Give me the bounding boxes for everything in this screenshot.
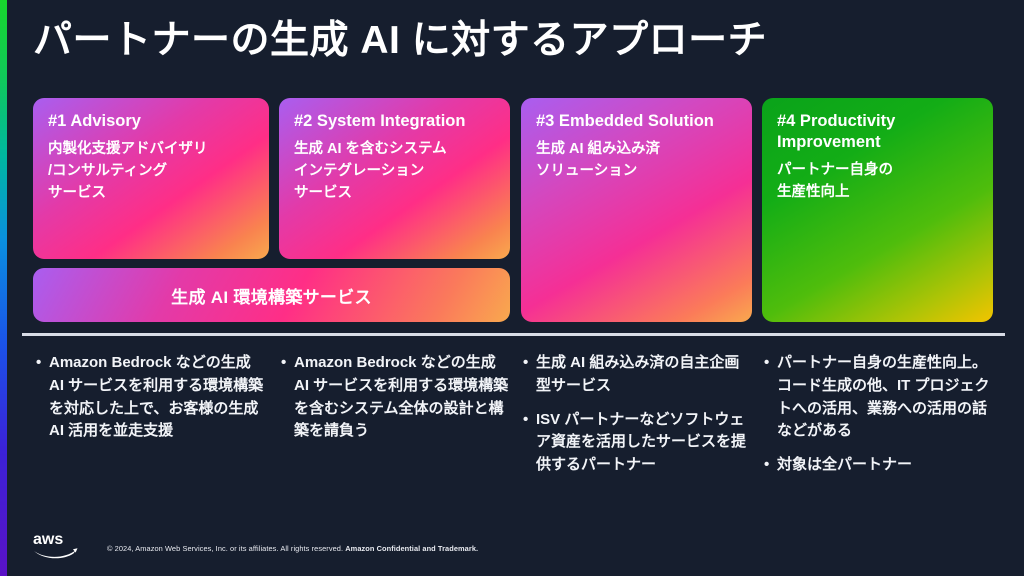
bullet-item: •Amazon Bedrock などの生成 AI サービスを利用する環境構築を対… xyxy=(36,352,268,443)
bullet-column-productivity-improvement: •パートナー自身の生産性向上。コード生成の他、IT プロジェクトへの活用、業務へ… xyxy=(764,352,996,488)
approach-card-embedded-solution[interactable]: #3 Embedded Solution 生成 AI 組み込み済 ソリューション xyxy=(521,98,752,322)
card-body: 生成 AI 組み込み済 ソリューション xyxy=(536,138,737,182)
approach-card-advisory[interactable]: #1 Advisory 内製化支援アドバイザリ /コンサルティング サービス xyxy=(33,98,269,259)
footer-copyright: © 2024, Amazon Web Services, Inc. or its… xyxy=(107,544,478,559)
bullet-item: •対象は全パートナー xyxy=(764,454,996,477)
approach-card-productivity-improvement[interactable]: #4 Productivity Improvement パートナー自身の 生産性… xyxy=(762,98,993,322)
footer-copyright-normal: © 2024, Amazon Web Services, Inc. or its… xyxy=(107,544,345,553)
bullet-marker-icon: • xyxy=(523,352,536,398)
horizontal-divider xyxy=(22,333,1005,336)
bullet-marker-icon: • xyxy=(281,352,294,443)
bullet-text: Amazon Bedrock などの生成 AI サービスを利用する環境構築を含む… xyxy=(294,352,511,443)
bullet-item: •Amazon Bedrock などの生成 AI サービスを利用する環境構築を含… xyxy=(281,352,511,443)
card-title: #4 Productivity Improvement xyxy=(777,111,978,153)
footer-copyright-bold: Amazon Confidential and Trademark. xyxy=(345,544,478,553)
bullet-text: 生成 AI 組み込み済の自主企画型サービス xyxy=(536,352,753,398)
card-body: 生成 AI を含むシステム インテグレーション サービス xyxy=(294,138,495,204)
footer: aws © 2024, Amazon Web Services, Inc. or… xyxy=(33,529,478,559)
bullet-column-system-integration: •Amazon Bedrock などの生成 AI サービスを利用する環境構築を含… xyxy=(281,352,511,454)
bullet-text: Amazon Bedrock などの生成 AI サービスを利用する環境構築を対応… xyxy=(49,352,268,443)
bullet-column-embedded-solution: •生成 AI 組み込み済の自主企画型サービス•ISV パートナーなどソフトウェア… xyxy=(523,352,753,488)
bullet-text: パートナー自身の生産性向上。コード生成の他、IT プロジェクトへの活用、業務への… xyxy=(777,352,996,443)
bullet-text: 対象は全パートナー xyxy=(777,454,996,477)
bullet-marker-icon: • xyxy=(523,409,536,477)
bullet-text: ISV パートナーなどソフトウェア資産を活用したサービスを提供するパートナー xyxy=(536,409,753,477)
bullet-marker-icon: • xyxy=(764,352,777,443)
environment-build-service-banner[interactable]: 生成 AI 環境構築サービス xyxy=(33,268,510,322)
bullet-marker-icon: • xyxy=(36,352,49,443)
aws-logo-icon: aws xyxy=(33,529,79,559)
bullet-column-advisory: •Amazon Bedrock などの生成 AI サービスを利用する環境構築を対… xyxy=(36,352,268,454)
bullet-item: •パートナー自身の生産性向上。コード生成の他、IT プロジェクトへの活用、業務へ… xyxy=(764,352,996,443)
card-title: #1 Advisory xyxy=(48,111,254,132)
banner-label: 生成 AI 環境構築サービス xyxy=(171,283,372,308)
bullet-marker-icon: • xyxy=(764,454,777,477)
approach-card-system-integration[interactable]: #2 System Integration 生成 AI を含むシステム インテグ… xyxy=(279,98,510,259)
svg-text:aws: aws xyxy=(33,531,63,548)
card-title: #2 System Integration xyxy=(294,111,495,132)
bullet-item: •生成 AI 組み込み済の自主企画型サービス xyxy=(523,352,753,398)
card-body: 内製化支援アドバイザリ /コンサルティング サービス xyxy=(48,138,254,204)
card-title: #3 Embedded Solution xyxy=(536,111,737,132)
card-body: パートナー自身の 生産性向上 xyxy=(777,159,978,203)
bullet-item: •ISV パートナーなどソフトウェア資産を活用したサービスを提供するパートナー xyxy=(523,409,753,477)
